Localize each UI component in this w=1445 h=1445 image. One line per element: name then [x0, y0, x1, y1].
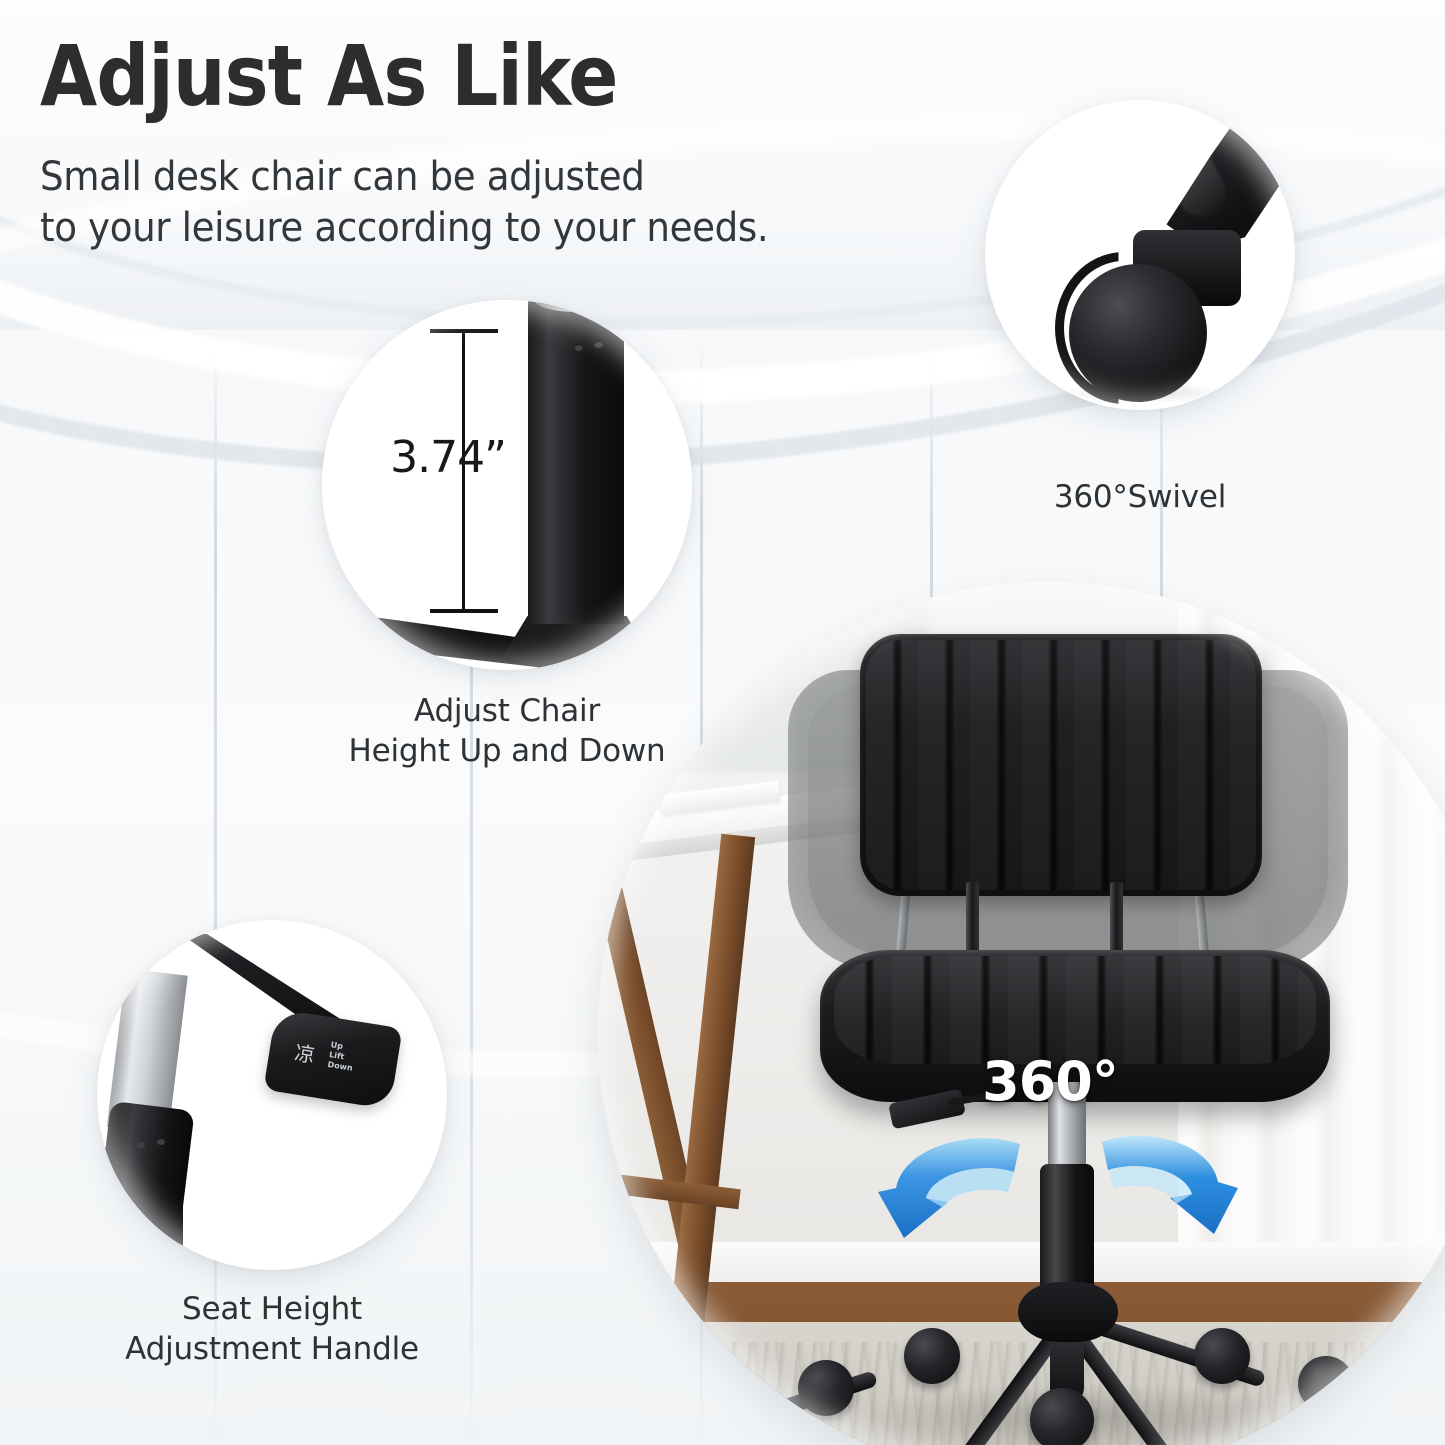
dimension-cap-bottom	[430, 609, 498, 613]
chair-caster	[798, 1360, 854, 1416]
caster-wheel	[1069, 264, 1207, 402]
chair-backrest-channels	[866, 640, 1256, 890]
badge-360: 360°	[920, 1050, 1180, 1113]
handle-caption: Seat Height Adjustment Handle	[82, 1290, 462, 1369]
chair-caster	[1298, 1356, 1354, 1412]
caster-circle	[985, 100, 1295, 410]
cylinder-caption: Adjust Chair Height Up and Down	[307, 692, 707, 771]
handle-circle: 凉 Up Lift Down	[97, 920, 447, 1270]
cylinder-vent-hole	[574, 344, 583, 351]
main-scene-circle: 360°	[598, 582, 1445, 1445]
sleeve-vent-hole	[157, 1139, 165, 1145]
page-subtitle: Small desk chair can be adjusted to your…	[40, 152, 877, 254]
rotation-arrows-icon	[878, 1122, 1238, 1352]
room-scene: 360°	[598, 582, 1445, 1445]
cylinder-vent-hole	[594, 341, 603, 348]
caster-caption: 360°Swivel	[960, 478, 1320, 518]
infographic-canvas: Adjust As Like Small desk chair can be a…	[0, 0, 1445, 1445]
dimension-value: 3.74”	[368, 432, 528, 483]
cylinder-foot	[504, 616, 650, 670]
lever-markings: Up Lift Down	[327, 1040, 357, 1074]
dimension-cap-top	[430, 329, 498, 333]
sleeve-vent-hole	[137, 1142, 145, 1148]
page-title: Adjust As Like	[40, 34, 832, 118]
cylinder-circle: 3.74”	[322, 300, 692, 670]
chair-caster	[1030, 1388, 1094, 1445]
wall-panel-line	[214, 335, 217, 1445]
cylinder-scene: 3.74”	[322, 300, 692, 670]
chair-seat-channels	[834, 956, 1316, 1064]
